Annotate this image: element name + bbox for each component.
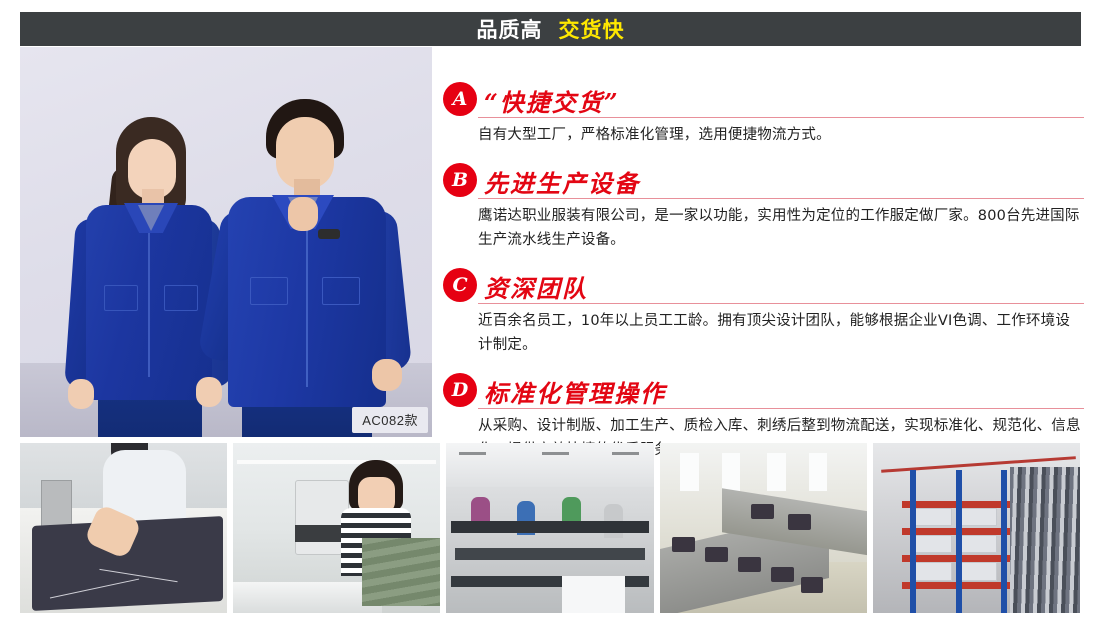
garment-seven	[788, 514, 811, 529]
packed-bag-four	[960, 535, 997, 554]
window-two	[722, 453, 741, 490]
ceiling-fan-one	[459, 452, 486, 455]
header-title-accent: 交货快	[559, 14, 625, 44]
model-female-zipper	[148, 227, 150, 377]
factory-photo-strip	[20, 443, 1080, 613]
badge-a-icon: A	[444, 83, 476, 115]
ceiling-fan-three	[612, 452, 639, 455]
feature-d-divider	[478, 408, 1084, 409]
feature-b-title: 先进生产设备	[484, 172, 640, 199]
feature-c-divider	[478, 303, 1084, 304]
model-female-hand-right	[196, 377, 222, 407]
ceiling-fan-two	[542, 452, 569, 455]
feature-b-heading: B 先进生产设备	[444, 159, 1084, 199]
feature-list: A “快捷交货” 自有大型工厂，严格标准化管理，选用便捷物流方式。 B 先进生产…	[444, 78, 1084, 438]
model-male-watch	[318, 229, 340, 239]
model-female-pocket-left	[104, 285, 138, 311]
rack-post-three	[1001, 470, 1007, 613]
garment-six	[751, 504, 774, 519]
packed-bag-two	[960, 508, 997, 527]
feature-a-divider	[478, 117, 1084, 118]
garment-five	[801, 577, 824, 592]
packed-bag-six	[960, 562, 997, 581]
feature-a-title: “快捷交货”	[484, 91, 620, 118]
feature-b-divider	[478, 198, 1084, 199]
feature-a-heading: A “快捷交货”	[444, 78, 1084, 118]
badge-d-icon: D	[444, 374, 476, 406]
model-female-pocket-right	[164, 285, 198, 311]
packed-bag-three	[914, 535, 951, 554]
model-female-trousers	[98, 395, 202, 437]
hero-product-image: AC082款	[20, 47, 432, 437]
promo-page: 品质高 交货快 AC082款	[0, 0, 1100, 619]
feature-d-heading: D 标准化管理操作	[444, 369, 1084, 409]
packed-bag-one	[914, 508, 951, 527]
hanging-garments	[1010, 467, 1080, 613]
thumbnail-warehouse-racks	[873, 443, 1080, 613]
workbench-row-two	[455, 548, 646, 560]
garment-two	[705, 547, 728, 562]
badge-c-icon: C	[444, 269, 476, 301]
header-title-primary: 品质高	[477, 14, 543, 44]
thumbnail-sewing-operator	[233, 443, 440, 613]
ceiling-lamp	[237, 460, 436, 464]
feature-item-c: C 资深团队 近百余名员工，10年以上员工工龄。拥有顶尖设计团队，能够根据企业V…	[444, 264, 1084, 357]
garment-one	[672, 537, 695, 552]
green-fabric-stack	[362, 538, 441, 606]
feature-item-b: B 先进生产设备 鹰诺达职业服装有限公司，是一家以功能，实用性为定位的工作服定做…	[444, 159, 1084, 252]
window-four	[809, 453, 828, 490]
factory-ceiling	[446, 443, 653, 487]
rack-post-two	[956, 470, 962, 613]
garment-four	[771, 567, 794, 582]
model-female-hand-left	[68, 379, 94, 409]
model-male-hand-left	[288, 197, 318, 231]
workbench-row-one	[451, 521, 650, 533]
feature-a-body: 自有大型工厂，严格标准化管理，选用便捷物流方式。	[478, 124, 1084, 147]
garment-three	[738, 557, 761, 572]
thumbnail-cutting-workshop	[20, 443, 227, 613]
header-banner: 品质高 交货快	[20, 12, 1081, 46]
packed-bag-five	[914, 562, 951, 581]
model-male-zipper	[306, 223, 308, 387]
sewing-table	[233, 582, 382, 613]
feature-c-body: 近百余名员工，10年以上员工工龄。拥有顶尖设计团队，能够根据企业VI色调、工作环…	[478, 310, 1084, 357]
product-code-label: AC082款	[352, 407, 428, 433]
thumbnail-sewing-floor	[446, 443, 653, 613]
model-male-hand-right	[372, 359, 402, 391]
window-one	[680, 453, 699, 490]
badge-b-icon: B	[444, 164, 476, 196]
feature-d-title: 标准化管理操作	[484, 382, 666, 409]
model-male-pocket-left	[250, 277, 288, 305]
feature-c-heading: C 资深团队	[444, 264, 1084, 304]
model-male-pocket-right	[322, 277, 360, 305]
feature-c-title: 资深团队	[484, 277, 588, 304]
rack-post-one	[910, 470, 916, 613]
feature-b-body: 鹰诺达职业服装有限公司，是一家以功能，实用性为定位的工作服定做厂家。800台先进…	[478, 205, 1084, 252]
thumbnail-production-line	[660, 443, 867, 613]
feature-item-a: A “快捷交货” 自有大型工厂，严格标准化管理，选用便捷物流方式。	[444, 78, 1084, 147]
window-three	[767, 453, 786, 490]
white-fabric-pile	[562, 576, 624, 613]
